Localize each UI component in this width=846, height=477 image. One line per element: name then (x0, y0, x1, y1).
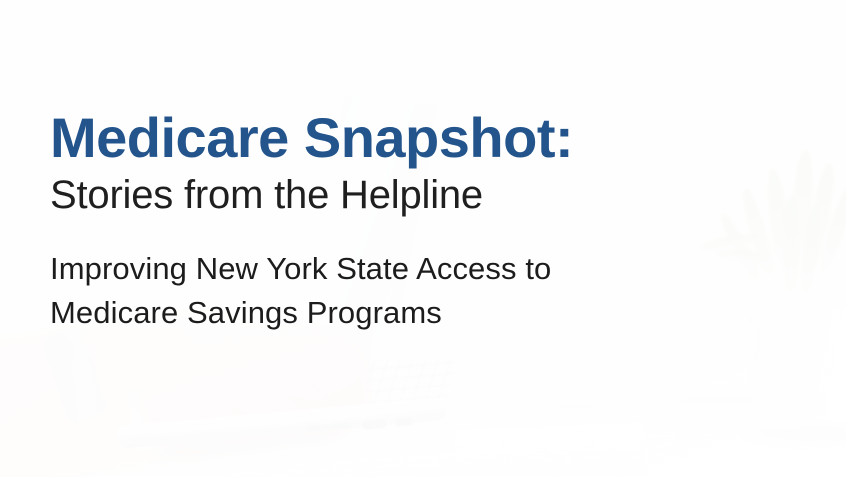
banner-tagline-line-2: Medicare Savings Programs (50, 291, 810, 335)
banner-headline: Medicare Snapshot: (50, 108, 810, 167)
banner-subheadline: Stories from the Helpline (50, 173, 810, 217)
banner-tagline: Improving New York State Access to Medic… (50, 247, 810, 335)
banner-text-block: Medicare Snapshot: Stories from the Help… (50, 108, 810, 335)
medicare-snapshot-banner: Medicare Snapshot: Stories from the Help… (0, 0, 846, 477)
banner-tagline-line-1: Improving New York State Access to (50, 247, 810, 291)
